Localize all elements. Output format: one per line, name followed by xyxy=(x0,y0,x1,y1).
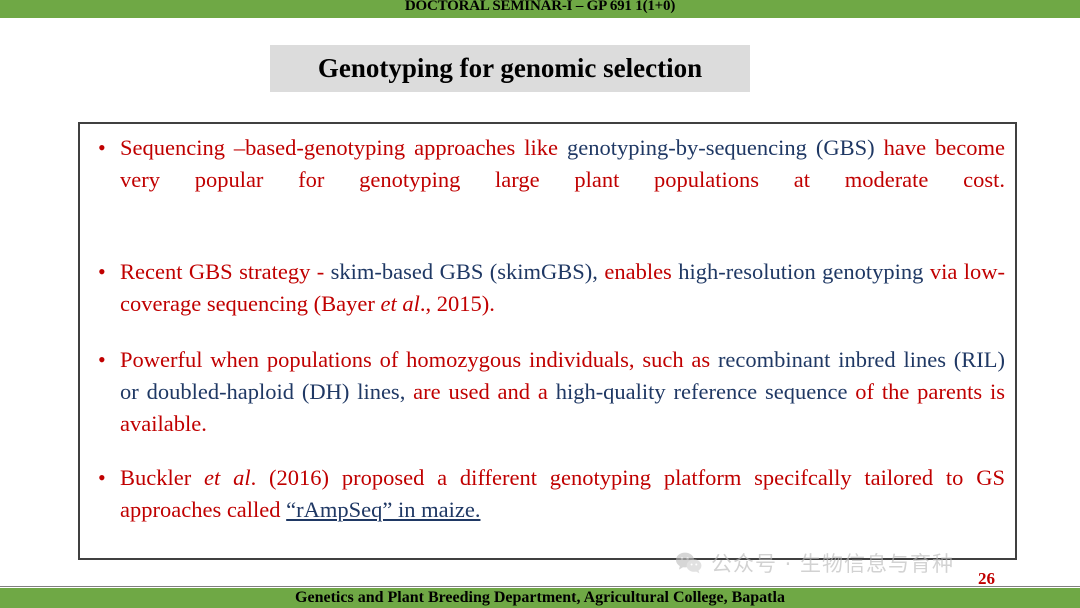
footer-divider xyxy=(0,586,1080,587)
bullet-marker-icon: • xyxy=(90,256,120,288)
text-run: et al xyxy=(381,291,420,316)
page-title: Genotyping for genomic selection xyxy=(318,53,702,84)
bullet-spacer xyxy=(90,228,1005,256)
bullet-text-rampseq: Buckler et al. (2016) proposed a differe… xyxy=(120,462,1005,526)
bullet-marker-icon: • xyxy=(90,344,120,376)
bullet-marker-icon: • xyxy=(90,462,120,494)
text-run: . (2016) proposed a different genotyping… xyxy=(120,465,1005,522)
text-run: enables xyxy=(598,259,678,284)
bullet-item-gbs-approaches: • Sequencing –based-genotyping approache… xyxy=(90,132,1005,228)
text-run: skim-based GBS (skimGBS), xyxy=(331,259,598,284)
bullet-text-gbs-approaches: Sequencing –based-genotyping approaches … xyxy=(120,132,1005,228)
bullet-item-rampseq: • Buckler et al. (2016) proposed a diffe… xyxy=(90,462,1005,526)
bullet-text-skimgbs: Recent GBS strategy - skim-based GBS (sk… xyxy=(120,256,1005,320)
text-run: high-resolution genotyping xyxy=(678,259,923,284)
text-run: ., 2015). xyxy=(420,291,495,316)
text-run: et al xyxy=(204,465,251,490)
slide-title-box: Genotyping for genomic selection xyxy=(270,45,750,92)
text-run: Powerful when populations of homozygous … xyxy=(120,347,718,372)
text-run: “rAmpSeq” in maize. xyxy=(286,497,480,522)
bullet-item-skimgbs: • Recent GBS strategy - skim-based GBS (… xyxy=(90,256,1005,320)
bullet-item-homozygous-populations: • Powerful when populations of homozygou… xyxy=(90,344,1005,440)
text-run: genotyping-by-sequencing (GBS) xyxy=(567,135,875,160)
footer-title: Genetics and Plant Breeding Department, … xyxy=(0,588,1080,608)
text-run: Sequencing –based-genotyping approaches … xyxy=(120,135,567,160)
seminar-header-title: DOCTORAL SEMINAR-I – GP 691 1(1+0) xyxy=(0,0,1080,15)
bullet-spacer xyxy=(90,440,1005,462)
slide-content-box: • Sequencing –based-genotyping approache… xyxy=(78,122,1017,560)
text-run: Buckler xyxy=(120,465,204,490)
text-run: Recent GBS strategy - xyxy=(120,259,331,284)
bullet-text-homozygous-populations: Powerful when populations of homozygous … xyxy=(120,344,1005,440)
bullet-marker-icon: • xyxy=(90,132,120,164)
text-run: are used and a xyxy=(405,379,555,404)
text-run: high-quality reference sequence xyxy=(556,379,848,404)
bullet-spacer xyxy=(90,320,1005,344)
